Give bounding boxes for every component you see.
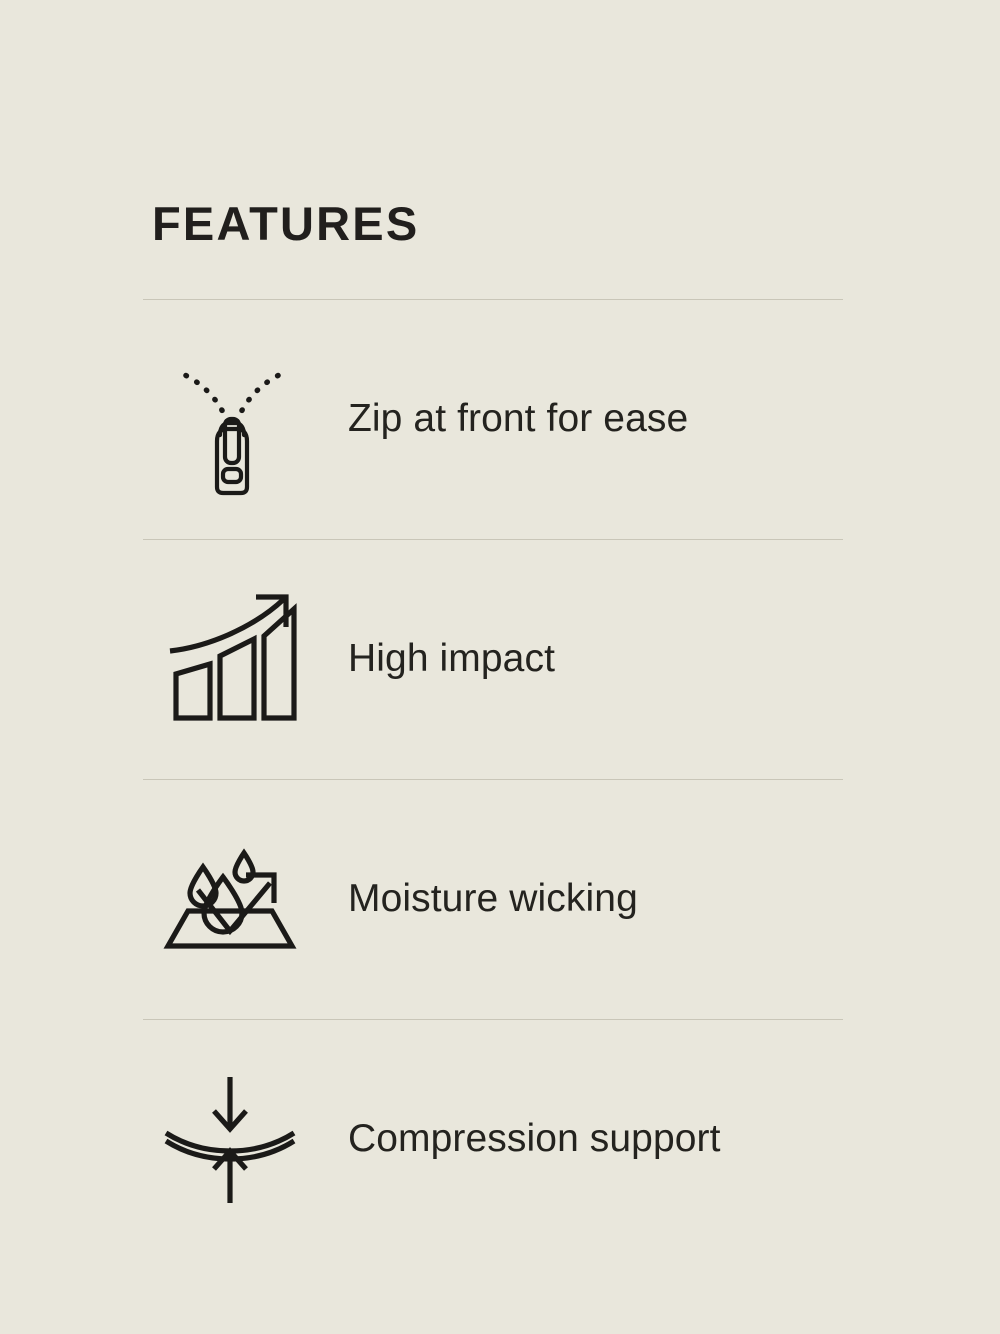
features-page: FEATURES	[0, 0, 1000, 1334]
list-item[interactable]: High impact	[143, 540, 843, 779]
feature-label: Moisture wicking	[348, 877, 638, 922]
feature-label: Compression support	[348, 1117, 721, 1162]
moisture-wicking-icon	[155, 825, 305, 975]
compression-icon	[155, 1065, 305, 1215]
growth-chart-icon	[155, 585, 305, 735]
list-item[interactable]: Compression support	[143, 1020, 843, 1259]
feature-label: High impact	[348, 637, 555, 682]
features-panel: FEATURES	[143, 200, 843, 1259]
list-item[interactable]: Zip at front for ease	[143, 300, 843, 539]
page-title: FEATURES	[143, 200, 843, 247]
feature-list: Zip at front for ease	[143, 300, 843, 1259]
feature-label: Zip at front for ease	[348, 397, 688, 442]
moisture-wicking-icon-row[interactable]: Moisture wicking	[143, 780, 843, 1019]
zipper-icon	[155, 345, 305, 495]
